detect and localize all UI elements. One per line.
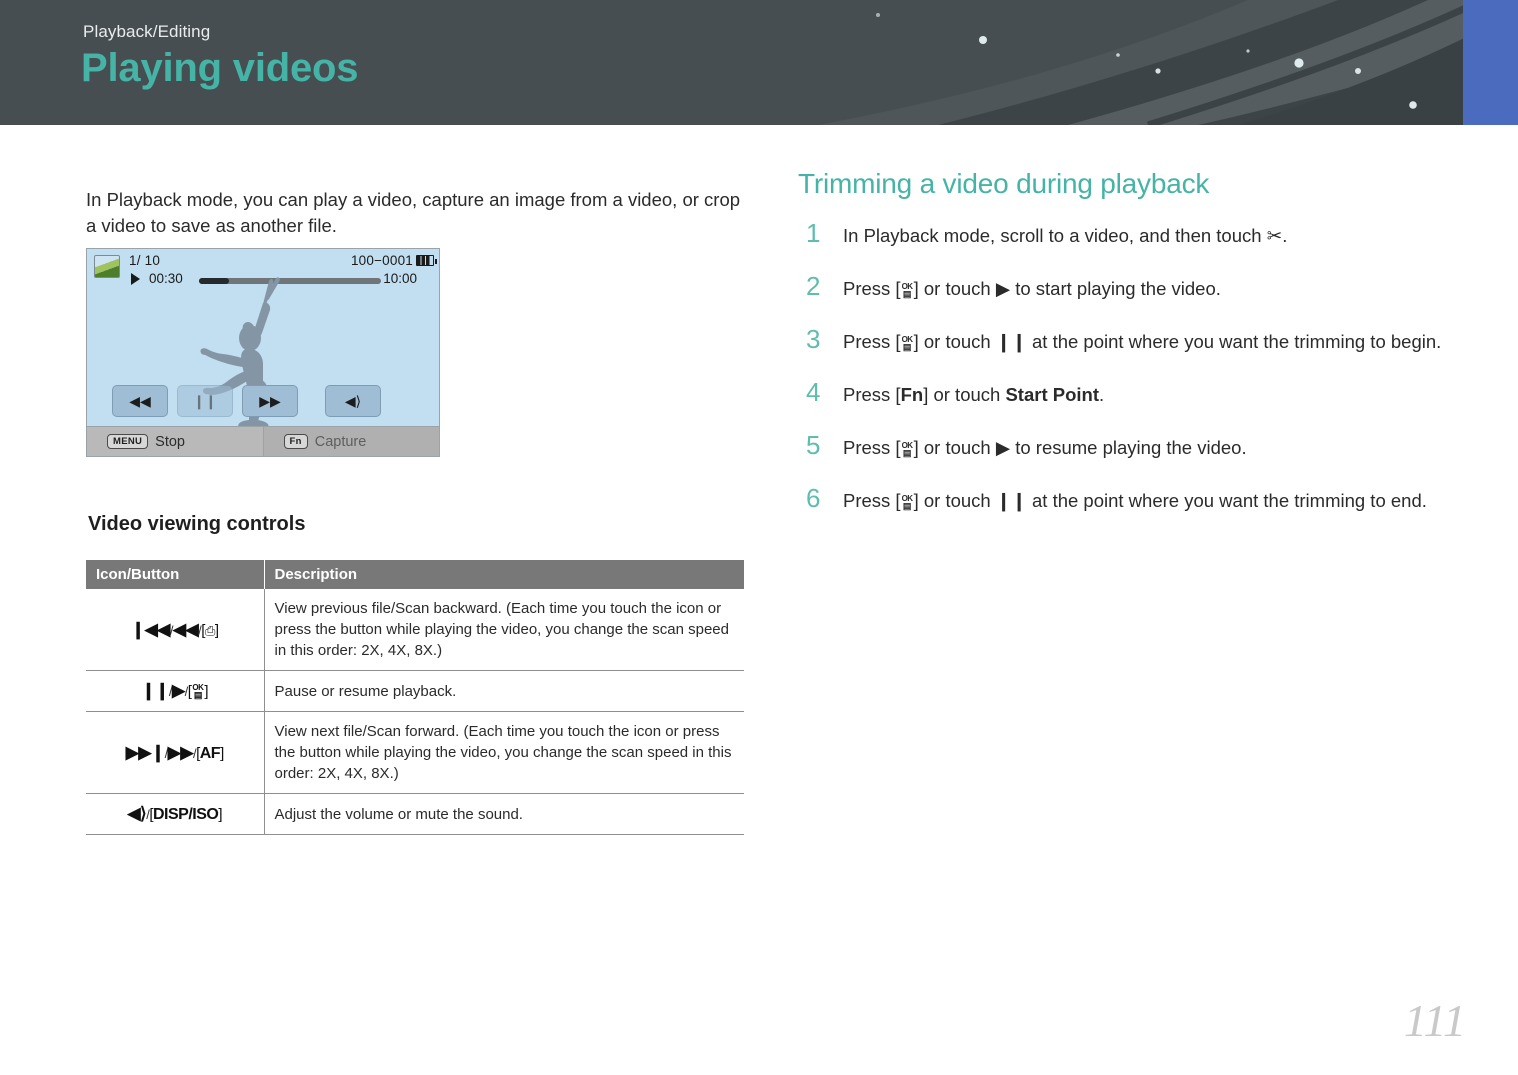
trimming-heading: Trimming a video during playback — [798, 168, 1468, 200]
play-icon: ▶ — [172, 681, 185, 700]
step-text: Press [OK▤] or touch ▶ to start playing … — [843, 278, 1221, 299]
table-header-icon: Icon/Button — [86, 560, 264, 589]
row-desc-next-scanfwd: View next file/Scan forward. (Each time … — [264, 712, 744, 794]
right-column: Trimming a video during playback 1 In Pl… — [798, 168, 1468, 540]
step-text: Press [OK▤] or touch ▶ to resume playing… — [843, 437, 1247, 458]
ok-button-icon: OK▤ — [901, 336, 914, 352]
start-point-label: Start Point — [1005, 384, 1099, 405]
step-text: Press [OK▤] or touch ❙❙ at the point whe… — [843, 490, 1427, 511]
lcd-frame-count: 1/ 10 — [129, 253, 160, 268]
page-header: Playback/Editing Playing videos — [0, 0, 1518, 125]
row-icon-volume: ◀⟩/[DISP/ISO] — [86, 794, 264, 835]
play-icon: ▶ — [996, 437, 1010, 458]
intro-paragraph: In Playback mode, you can play a video, … — [86, 187, 741, 239]
row-desc-prev-scanback: View previous file/Scan backward. (Each … — [264, 589, 744, 671]
page-title: Playing videos — [81, 46, 358, 91]
breadcrumb: Playback/Editing — [83, 22, 210, 42]
fn-key-badge: Fn — [284, 434, 308, 449]
table-row: ▶▶❙/▶▶/[AF] View next file/Scan forward.… — [86, 712, 744, 794]
ok-button-icon: OK▤ — [901, 442, 914, 458]
lcd-volume-button[interactable]: ◀⟩ — [325, 385, 381, 417]
step-2: 2 Press [OK▤] or touch ▶ to start playin… — [798, 275, 1468, 303]
row-icon-prev-scanback: ❙◀◀/◀◀/[⎙] — [86, 589, 264, 671]
step-3: 3 Press [OK▤] or touch ❙❙ at the point w… — [798, 328, 1468, 356]
skip-forward-icon: ▶▶❙ — [126, 743, 165, 762]
fn-button-icon: Fn — [901, 384, 924, 405]
step-number: 5 — [806, 430, 820, 461]
step-1: 1 In Playback mode, scroll to a video, a… — [798, 222, 1468, 250]
row-icon-next-scanfwd: ▶▶❙/▶▶/[AF] — [86, 712, 264, 794]
row-desc-pause-play: Pause or resume playback. — [264, 671, 744, 712]
play-icon: ▶ — [996, 278, 1010, 299]
lcd-stop-action[interactable]: MENU Stop — [87, 426, 263, 456]
table-row: ◀⟩/[DISP/ISO] Adjust the volume or mute … — [86, 794, 744, 835]
step-number: 4 — [806, 377, 820, 408]
lcd-total-time: 10:00 — [383, 271, 417, 286]
landscape-thumbnail-icon — [94, 255, 120, 278]
lcd-capture-action[interactable]: Fn Capture — [263, 426, 440, 456]
delete-button-icon: ⎙ — [205, 623, 215, 638]
ok-button-icon: OK▤ — [901, 495, 914, 511]
lcd-bottom-bar: MENU Stop Fn Capture — [87, 426, 439, 456]
lcd-screen: 1/ 10 00:30 100−0001 10:00 — [87, 249, 439, 427]
play-icon — [131, 273, 140, 285]
skip-back-icon: ❙◀◀ — [131, 620, 170, 639]
menu-key-badge: MENU — [107, 434, 148, 449]
header-decoration — [818, 0, 1518, 125]
disp-iso-button-icon: DISP/ISO — [153, 806, 218, 823]
left-column: In Playback mode, you can play a video, … — [86, 168, 746, 257]
rewind-icon: ◀◀ — [129, 394, 151, 408]
pause-icon: ❙❙ — [996, 331, 1027, 352]
table-header-row: Icon/Button Description — [86, 560, 744, 589]
step-4: 4 Press [Fn] or touch Start Point. — [798, 381, 1468, 409]
lcd-rewind-button[interactable]: ◀◀ — [112, 385, 168, 417]
step-text: Press [Fn] or touch Start Point. — [843, 384, 1104, 405]
rewind-icon: ◀◀ — [173, 620, 198, 639]
section-heading: Video viewing controls — [88, 513, 305, 536]
fast-forward-icon: ▶▶ — [168, 743, 193, 762]
step-number: 1 — [806, 218, 820, 249]
step-number: 2 — [806, 271, 820, 302]
lcd-file-number: 100−0001 — [351, 253, 413, 268]
header-blue-accent — [1463, 0, 1518, 125]
row-desc-volume: Adjust the volume or mute the sound. — [264, 794, 744, 835]
step-text: In Playback mode, scroll to a video, and… — [843, 225, 1287, 246]
step-number: 6 — [806, 483, 820, 514]
scissors-icon: ✂ — [1267, 225, 1283, 246]
pause-icon: ❙❙ — [996, 490, 1027, 511]
table-row: ❙◀◀/◀◀/[⎙] View previous file/Scan backw… — [86, 589, 744, 671]
pause-icon: ❙❙ — [193, 394, 216, 408]
table-header-description: Description — [264, 560, 744, 589]
camera-lcd-illustration: 1/ 10 00:30 100−0001 10:00 — [86, 248, 440, 457]
lcd-pause-button[interactable]: ❙❙ — [177, 385, 233, 417]
row-icon-pause-play: ❙❙/▶/[OK▤] — [86, 671, 264, 712]
page-number: 111 — [1404, 994, 1466, 1047]
table-row: ❙❙/▶/[OK▤] Pause or resume playback. — [86, 671, 744, 712]
lcd-fast-forward-button[interactable]: ▶▶ — [242, 385, 298, 417]
lcd-button-row: ◀◀ ❙❙ ▶▶ ◀⟩ — [87, 385, 439, 419]
step-5: 5 Press [OK▤] or touch ▶ to resume playi… — [798, 434, 1468, 462]
step-number: 3 — [806, 324, 820, 355]
lcd-capture-label: Capture — [315, 434, 367, 450]
pause-icon: ❙❙ — [141, 681, 169, 700]
step-text: Press [OK▤] or touch ❙❙ at the point whe… — [843, 331, 1441, 352]
battery-full-icon — [416, 255, 434, 266]
step-6: 6 Press [OK▤] or touch ❙❙ at the point w… — [798, 487, 1468, 515]
ok-button-icon: OK▤ — [901, 283, 914, 299]
lcd-elapsed-time: 00:30 — [149, 271, 183, 286]
lcd-stop-label: Stop — [155, 434, 185, 450]
volume-icon: ◀⟩ — [345, 394, 361, 408]
ok-button-icon: OK▤ — [191, 684, 204, 700]
video-controls-table: Icon/Button Description ❙◀◀/◀◀/[⎙] View … — [86, 560, 744, 835]
volume-icon: ◀⟩ — [127, 804, 146, 823]
af-button-icon: AF — [200, 745, 220, 762]
fast-forward-icon: ▶▶ — [259, 394, 281, 408]
